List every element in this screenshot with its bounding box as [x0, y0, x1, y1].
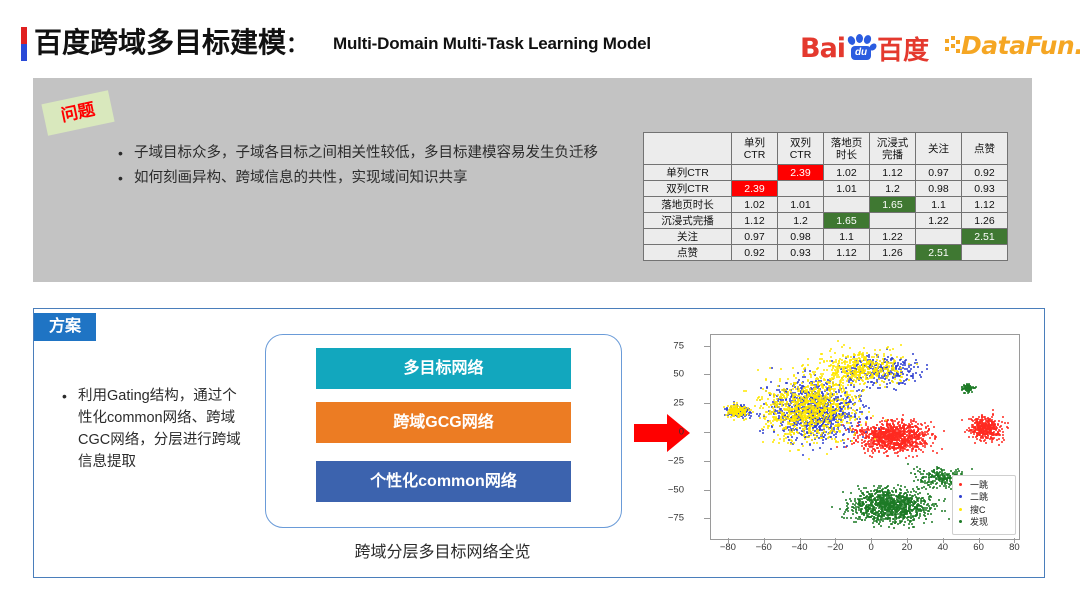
scatter-point: [791, 436, 793, 438]
scatter-point: [788, 415, 790, 417]
scatter-point: [875, 373, 877, 375]
scatter-point: [813, 442, 815, 444]
scatter-point: [914, 380, 916, 382]
scatter-point: [892, 381, 894, 383]
table-cell: 1.65: [824, 213, 870, 229]
scatter-point: [926, 364, 928, 366]
scatter-point: [745, 418, 747, 420]
scatter-point: [749, 417, 751, 419]
scatter-point: [874, 450, 876, 452]
table-cell: 0.93: [778, 245, 824, 261]
scatter-point: [860, 400, 862, 402]
scatter-point: [872, 415, 874, 417]
scatter-point: [765, 390, 767, 392]
scatter-point: [881, 437, 883, 439]
scatter-point: [829, 385, 831, 387]
scatter-point: [921, 371, 923, 373]
scatter-point: [901, 382, 903, 384]
scatter-point: [855, 380, 857, 382]
problem-bullet-text: 子域目标众多，子域各目标之间相关性较低，多目标建模容易发生负迁移: [134, 142, 598, 165]
scatter-point: [979, 421, 981, 423]
table-cell: 0.98: [916, 181, 962, 197]
scatter-point: [802, 445, 804, 447]
table-row: 单列CTR2.391.021.120.970.92: [644, 165, 1008, 181]
scatter-point: [805, 422, 807, 424]
scatter-point: [889, 436, 891, 438]
scatter-point: [907, 427, 909, 429]
scatter-point: [1002, 431, 1004, 433]
scatter-point: [752, 411, 754, 413]
scatter-point: [862, 390, 864, 392]
scatter-point: [812, 429, 814, 431]
scatter-point: [757, 369, 759, 371]
scatter-point: [821, 391, 823, 393]
scatter-point: [909, 370, 911, 372]
scatter-point: [819, 362, 821, 364]
scatter-point: [846, 367, 848, 369]
scatter-point: [982, 434, 984, 436]
scatter-point: [782, 414, 784, 416]
scatter-point: [885, 451, 887, 453]
scatter-point: [813, 388, 815, 390]
scatter-point: [878, 378, 880, 380]
scatter-point: [804, 428, 806, 430]
scatter-point: [821, 375, 823, 377]
scatter-point: [784, 419, 786, 421]
scatter-point: [837, 441, 839, 443]
scatter-point: [976, 418, 978, 420]
datafun-logo: DataFun.: [945, 31, 1080, 59]
scatter-point: [887, 373, 889, 375]
scatter-point: [819, 447, 821, 449]
scatter-point: [975, 428, 977, 430]
table-cell: 1.12: [824, 245, 870, 261]
scatter-point: [793, 375, 795, 377]
scatter-point: [838, 362, 840, 364]
table-cell: 1.02: [824, 165, 870, 181]
scatter-point: [837, 340, 839, 342]
scatter-point: [907, 491, 909, 493]
scatter-point: [833, 434, 835, 436]
scatter-point: [885, 428, 887, 430]
list-item: • 利用Gating结构，通过个性化common网络、跨域CGC网络，分层进行跨…: [62, 385, 242, 473]
table-column-header: 点赞: [962, 133, 1008, 165]
scatter-point: [822, 405, 824, 407]
scatter-point: [772, 424, 774, 426]
scatter-point: [831, 438, 833, 440]
scatter-point: [762, 388, 764, 390]
scatter-point: [837, 410, 839, 412]
scatter-point: [914, 494, 916, 496]
scatter-point: [761, 428, 763, 430]
scatter-point: [931, 521, 933, 523]
scatter-point: [842, 419, 844, 421]
scatter-point: [826, 453, 828, 455]
scatter-point: [907, 449, 909, 451]
scatter-point: [762, 429, 764, 431]
scatter-point: [816, 442, 818, 444]
scatter-point: [986, 428, 988, 430]
scatter-point: [932, 503, 934, 505]
scatter-point: [822, 442, 824, 444]
scatter-point: [855, 397, 857, 399]
scatter-point: [836, 393, 838, 395]
scatter-point: [830, 356, 832, 358]
scatter-point: [904, 364, 906, 366]
scatter-point: [825, 413, 827, 415]
scatter-point: [911, 441, 913, 443]
table-cell: 1.26: [962, 213, 1008, 229]
scatter-point: [971, 426, 973, 428]
scatter-point: [819, 405, 821, 407]
scatter-point: [904, 521, 906, 523]
scatter-point: [881, 380, 883, 382]
scatter-point: [828, 410, 830, 412]
tsne-scatter-plot: 一跳二跳搜C发现 7550250−25−50−75−80−60−40−20020…: [678, 330, 1026, 570]
scatter-point: [779, 380, 781, 382]
scatter-point: [972, 436, 974, 438]
scatter-point: [815, 425, 817, 427]
scatter-point: [779, 438, 781, 440]
scatter-point: [824, 379, 826, 381]
scatter-point: [899, 359, 901, 361]
scatter-point: [852, 375, 854, 377]
datafun-dots-icon: [945, 36, 961, 56]
scatter-point: [804, 411, 806, 413]
scatter-point: [737, 405, 739, 407]
scatter-point: [822, 419, 824, 421]
table-column-header: 关注: [916, 133, 962, 165]
scatter-point: [801, 393, 803, 395]
scatter-point: [886, 383, 888, 385]
scatter-point: [918, 517, 920, 519]
scatter-point: [879, 421, 881, 423]
scatter-point: [824, 415, 826, 417]
scatter-point: [882, 362, 884, 364]
scatter-point: [829, 382, 831, 384]
table-cell: 1.02: [732, 197, 778, 213]
scatter-point: [895, 433, 897, 435]
scatter-point: [850, 429, 852, 431]
scatter-point: [869, 371, 871, 373]
table-cell: 1.12: [962, 197, 1008, 213]
scatter-point: [815, 423, 817, 425]
scatter-point: [886, 359, 888, 361]
scatter-point: [886, 347, 888, 349]
scatter-point: [854, 372, 856, 374]
scatter-point: [759, 417, 761, 419]
scatter-point: [791, 408, 793, 410]
table-cell: 0.92: [732, 245, 778, 261]
scatter-point: [908, 527, 910, 529]
scatter-point: [968, 427, 970, 429]
scatter-point: [858, 389, 860, 391]
scatter-point: [928, 428, 930, 430]
scatter-point: [930, 513, 932, 515]
scatter-point: [902, 414, 904, 416]
scatter-point: [982, 431, 984, 433]
scatter-point: [990, 426, 992, 428]
scatter-point: [759, 413, 761, 415]
scatter-point: [768, 406, 770, 408]
scatter-point: [844, 408, 846, 410]
scatter-point: [796, 437, 798, 439]
scatter-point: [1002, 434, 1004, 436]
scatter-point: [934, 508, 936, 510]
scatter-point: [902, 449, 904, 451]
scatter-point: [876, 359, 878, 361]
scatter-point: [1001, 421, 1003, 423]
scatter-point: [802, 428, 804, 430]
scatter-point: [818, 415, 820, 417]
scatter-point: [863, 347, 865, 349]
scatter-point: [904, 362, 906, 364]
scatter-point: [930, 445, 932, 447]
scatter-point: [767, 427, 769, 429]
scatter-point: [804, 376, 806, 378]
scatter-point: [830, 388, 832, 390]
scatter-point: [779, 378, 781, 380]
scatter-point: [793, 433, 795, 435]
scatter-point: [878, 451, 880, 453]
scatter-point: [803, 435, 805, 437]
scatter-point: [821, 401, 823, 403]
scatter-point: [861, 519, 863, 521]
baidu-logo-latin: Bai: [800, 33, 845, 64]
scatter-point: [842, 368, 844, 370]
scatter-point: [847, 438, 849, 440]
scatter-point: [827, 407, 829, 409]
scatter-point: [850, 422, 852, 424]
scatter-point: [856, 409, 858, 411]
scatter-point: [859, 373, 861, 375]
scatter-point: [820, 434, 822, 436]
scatter-point: [974, 442, 976, 444]
scatter-point: [789, 450, 791, 452]
scatter-point: [824, 409, 826, 411]
scatter-point: [886, 361, 888, 363]
scatter-point: [920, 376, 922, 378]
scatter-point: [811, 384, 813, 386]
scatter-point: [733, 402, 735, 404]
scatter-point: [793, 426, 795, 428]
scatter-point: [894, 378, 896, 380]
scatter-point: [936, 505, 938, 507]
scatter-point: [842, 379, 844, 381]
scatter-point: [727, 416, 729, 418]
scatter-point: [892, 429, 894, 431]
scatter-point: [773, 429, 775, 431]
scatter-point: [896, 382, 898, 384]
scatter-point: [767, 398, 769, 400]
scatter-point: [892, 436, 894, 438]
scatter-point: [802, 389, 804, 391]
scatter-point: [888, 379, 890, 381]
scatter-point: [795, 411, 797, 413]
scatter-point: [845, 400, 847, 402]
scatter-point: [741, 409, 743, 411]
scatter-point: [807, 396, 809, 398]
scatter-point: [985, 442, 987, 444]
scatter-point: [843, 366, 845, 368]
scatter-point: [831, 369, 833, 371]
scatter-point: [846, 422, 848, 424]
scatter-point: [874, 438, 876, 440]
scatter-point: [915, 450, 917, 452]
scatter-point: [984, 439, 986, 441]
scatter-point: [904, 433, 906, 435]
scatter-point: [830, 414, 832, 416]
scatter-point: [896, 356, 898, 358]
scatter-point: [881, 370, 883, 372]
scatter-point: [775, 413, 777, 415]
scatter-point: [852, 506, 854, 508]
scatter-point: [821, 384, 823, 386]
table-cell: 0.97: [916, 165, 962, 181]
scatter-point: [870, 417, 872, 419]
scatter-point: [839, 508, 841, 510]
scatter-point: [873, 485, 875, 487]
scatter-point: [817, 378, 819, 380]
diagram-caption: 跨域分层多目标网络全览: [265, 538, 620, 562]
scatter-point: [913, 433, 915, 435]
scatter-point: [759, 430, 761, 432]
scatter-point: [733, 419, 735, 421]
scatter-point: [812, 405, 814, 407]
scatter-point: [762, 441, 764, 443]
solution-bullet-text: 利用Gating结构，通过个性化common网络、跨域CGC网络，分层进行跨域信…: [78, 385, 242, 473]
scatter-point: [982, 427, 984, 429]
scatter-point: [850, 372, 852, 374]
scatter-point: [836, 372, 838, 374]
scatter-point: [865, 378, 867, 380]
scatter-point: [775, 406, 777, 408]
scatter-point: [762, 432, 764, 434]
scatter-point: [897, 447, 899, 449]
scatter-point: [998, 438, 1000, 440]
scatter-point: [838, 376, 840, 378]
scatter-point: [816, 368, 818, 370]
scatter-point: [852, 390, 854, 392]
scatter-point: [833, 430, 835, 432]
scatter-point: [781, 405, 783, 407]
scatter-point: [933, 426, 935, 428]
scatter-point: [759, 407, 761, 409]
scatter-point: [855, 412, 857, 414]
scatter-point: [765, 416, 767, 418]
scatter-point: [777, 434, 779, 436]
scatter-point: [1001, 441, 1003, 443]
scatter-point: [871, 373, 873, 375]
table-column-header: 单列CTR: [732, 133, 778, 165]
scatter-point: [887, 455, 889, 457]
scatter-point: [866, 386, 868, 388]
scatter-point: [871, 362, 873, 364]
table-column-header: 沉浸式完播: [870, 133, 916, 165]
scatter-point: [938, 499, 940, 501]
scatter-point: [777, 403, 779, 405]
scatter-point: [858, 488, 860, 490]
scatter-point: [849, 365, 851, 367]
scatter-point: [809, 373, 811, 375]
scatter-point: [820, 437, 822, 439]
scatter-point: [837, 420, 839, 422]
scatter-point: [797, 386, 799, 388]
scatter-point: [772, 441, 774, 443]
table-row-header: 单列CTR: [644, 165, 732, 181]
scatter-point: [823, 427, 825, 429]
scatter-point: [836, 428, 838, 430]
scatter-point: [981, 421, 983, 423]
scatter-point: [813, 395, 815, 397]
scatter-point: [843, 344, 845, 346]
scatter-point: [889, 382, 891, 384]
scatter-point: [903, 423, 905, 425]
scatter-point: [936, 452, 938, 454]
table-cell: 1.12: [870, 165, 916, 181]
scatter-point: [736, 410, 738, 412]
scatter-point: [789, 418, 791, 420]
scatter-point: [794, 416, 796, 418]
scatter-point: [850, 376, 852, 378]
scatter-point: [792, 393, 794, 395]
problem-bullet-list: • 子域目标众多，子域各目标之间相关性较低，多目标建模容易发生负迁移 • 如何刻…: [118, 142, 598, 192]
scatter-point: [786, 396, 788, 398]
scatter-point: [877, 447, 879, 449]
scatter-point: [789, 429, 791, 431]
scatter-point: [843, 442, 845, 444]
scatter-point: [779, 425, 781, 427]
table-row-header: 点赞: [644, 245, 732, 261]
scatter-point: [826, 369, 828, 371]
scatter-point: [930, 421, 932, 423]
table-row-header: 落地页时长: [644, 197, 732, 213]
scatter-point: [926, 368, 928, 370]
scatter-point: [821, 421, 823, 423]
table-cell: [778, 181, 824, 197]
scatter-point: [840, 440, 842, 442]
baidu-logo: Bai du 百度: [800, 30, 929, 60]
scatter-point: [792, 367, 794, 369]
scatter-point: [809, 409, 811, 411]
table-cell: 0.92: [962, 165, 1008, 181]
scatter-point: [844, 363, 846, 365]
scatter-point: [778, 442, 780, 444]
scatter-point: [918, 428, 920, 430]
scatter-point: [853, 384, 855, 386]
scatter-point: [900, 370, 902, 372]
scatter-point: [782, 421, 784, 423]
scatter-point: [822, 439, 824, 441]
table-cell: 2.39: [778, 165, 824, 181]
network-architecture-diagram: 多目标网络 跨域GCG网络 个性化common网络: [265, 334, 622, 528]
scatter-point: [852, 364, 854, 366]
scatter-point: [871, 456, 873, 458]
solution-tag-label: 方案: [34, 313, 96, 341]
scatter-point: [850, 384, 852, 386]
scatter-point: [801, 382, 803, 384]
scatter-point: [855, 418, 857, 420]
scatter-point: [830, 448, 832, 450]
scatter-point: [846, 361, 848, 363]
scatter-point: [857, 441, 859, 443]
scatter-point: [912, 448, 914, 450]
scatter-point: [887, 375, 889, 377]
scatter-point: [976, 438, 978, 440]
scatter-point: [848, 397, 850, 399]
scatter-point: [881, 420, 883, 422]
scatter-point: [895, 448, 897, 450]
